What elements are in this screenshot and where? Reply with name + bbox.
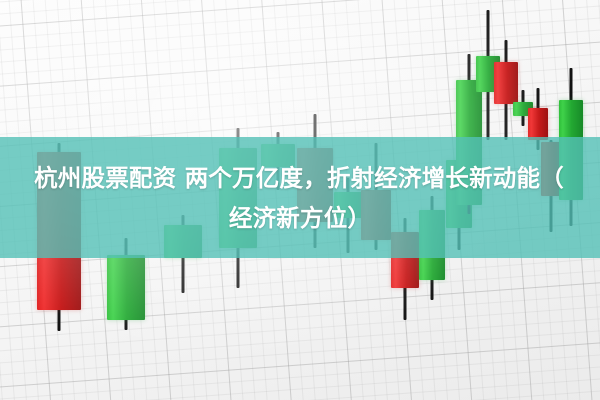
headline-text: 杭州股票配资 两个万亿度，折射经济增长新动能（ 经济新方位）	[0, 137, 600, 258]
candle-body-up	[107, 255, 145, 320]
banner-stage: 杭州股票配资 两个万亿度，折射经济增长新动能（ 经济新方位）	[0, 0, 600, 400]
headline-line-1: 杭州股票配资 两个万亿度，折射经济增长新动能（	[34, 158, 564, 198]
headline-line-2: 经济新方位）	[229, 198, 371, 238]
